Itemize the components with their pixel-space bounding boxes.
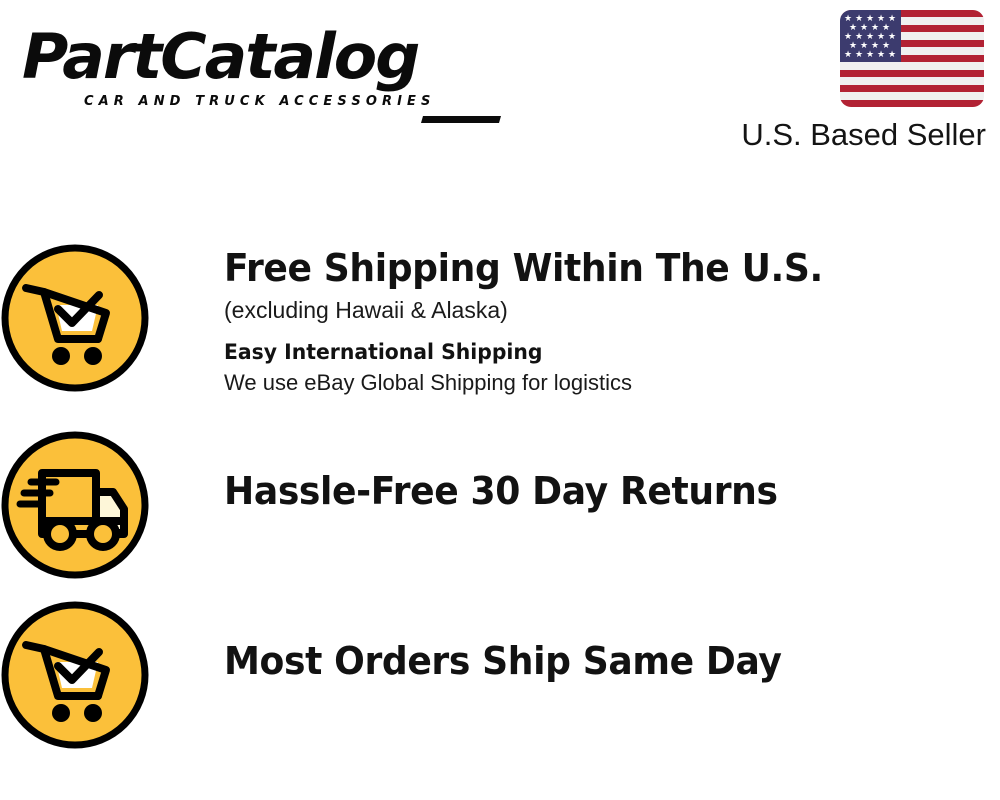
brand-tagline: CAR AND TRUCK ACCESSORIES: [84, 94, 436, 109]
feature-icon-wrap: [0, 430, 150, 580]
feature-title: Most Orders Ship Same Day: [224, 638, 781, 684]
feature-icon-wrap: [0, 600, 150, 750]
us-based-seller-label: U.S. Based Seller: [741, 117, 986, 153]
feature-row-returns: Hassle-Free 30 Day Returns: [0, 430, 1000, 580]
feature-title: Hassle-Free 30 Day Returns: [224, 468, 778, 514]
shopping-cart-check-icon: [0, 243, 150, 393]
feature-text-block: Most Orders Ship Same Day: [224, 600, 811, 684]
feature-sub-detail: We use eBay Global Shipping for logistic…: [224, 367, 854, 398]
shopping-cart-check-icon: [0, 600, 150, 750]
feature-icon-wrap: [0, 243, 150, 393]
feature-text-block: Free Shipping Within The U.S. (excluding…: [224, 243, 854, 398]
feature-subtitle: (excluding Hawaii & Alaska): [224, 293, 854, 327]
brand-wordmark: PartCatalog: [22, 24, 501, 90]
feature-title: Free Shipping Within The U.S.: [224, 245, 823, 291]
feature-text-block: Hassle-Free 30 Day Returns: [224, 430, 807, 514]
feature-row-same-day-ship: Most Orders Ship Same Day: [0, 600, 1000, 750]
feature-sub-heading: Easy International Shipping: [224, 337, 835, 367]
page-header: PartCatalog CAR AND TRUCK ACCESSORIES ★ …: [0, 0, 1000, 175]
promo-banner-page: PartCatalog CAR AND TRUCK ACCESSORIES ★ …: [0, 0, 1000, 800]
feature-row-free-shipping: Free Shipping Within The U.S. (excluding…: [0, 243, 1000, 398]
delivery-truck-icon: [0, 430, 150, 580]
flag-canton: ★ ★ ★ ★ ★ ★ ★ ★ ★ ★ ★ ★ ★ ★ ★ ★ ★ ★ ★ ★: [840, 10, 901, 62]
us-flag-icon: ★ ★ ★ ★ ★ ★ ★ ★ ★ ★ ★ ★ ★ ★ ★ ★ ★ ★ ★ ★: [840, 10, 984, 107]
brand-logo[interactable]: PartCatalog CAR AND TRUCK ACCESSORIES: [22, 24, 492, 114]
brand-underline-swoosh: [421, 116, 501, 123]
